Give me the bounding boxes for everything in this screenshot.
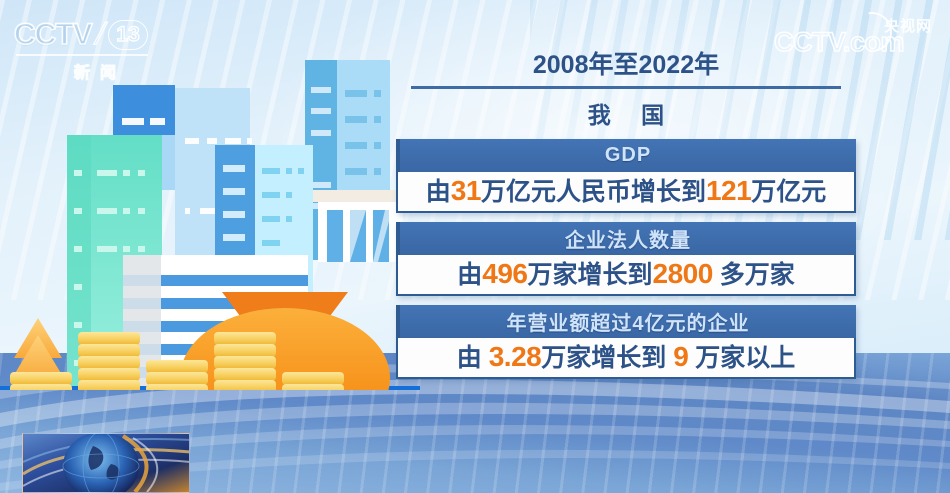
watermark-en-text: CCTV.com [774, 27, 904, 58]
city-illustration [0, 60, 420, 390]
statistic-text: 由 [457, 344, 489, 372]
statistic-text: 由 [426, 178, 451, 206]
statistic-row: GDP由31万亿元人民币增长到121万亿元 [396, 139, 856, 213]
cctv-wordmark: CCTV [14, 18, 92, 52]
statistic-label: 企业法人数量 [565, 224, 691, 253]
broadcast-screen: CCTV / 13 新闻 央视网 CCTV.com 2008年至2022年 我 … [0, 0, 950, 493]
statistics-panel: 2008年至2022年 我 国 GDP由31万亿元人民币增长到121万亿元企业法… [396, 52, 856, 388]
statistic-text: 万家以上 [688, 344, 795, 372]
statistic-text: 由 [457, 261, 482, 289]
site-watermark: 央视网 CCTV.com [774, 8, 944, 60]
statistic-row-body: 由31万亿元人民币增长到121万亿元 [396, 172, 856, 213]
cctv-channel-number: 13 [108, 20, 148, 50]
statistic-row: 年营业额超过4亿元的企业由 3.28万家增长到 9 万家以上 [396, 305, 856, 379]
statistic-text: 万家增长到 [527, 261, 652, 289]
cctv-underline [16, 54, 148, 56]
statistic-number: 496 [482, 258, 527, 289]
cctv-logo-row: CCTV / 13 [14, 18, 164, 52]
statistic-row-header: 年营业额超过4亿元的企业 [396, 305, 856, 338]
statistic-value: 由 3.28万家增长到 9 万家以上 [457, 343, 795, 371]
statistic-number: 31 [451, 175, 481, 206]
globe-graphic [23, 434, 190, 493]
statistic-number: 3.28 [489, 341, 542, 372]
statistic-number: 121 [706, 175, 751, 206]
globe-thumbnail [22, 433, 190, 493]
cctv-logo: CCTV / 13 新闻 [14, 18, 164, 76]
statistic-number: 9 [673, 341, 688, 372]
statistic-row-header: GDP [396, 139, 856, 172]
statistic-text: 万家增长到 [541, 344, 673, 372]
city-skyline-svg [0, 60, 420, 390]
statistic-row-header: 企业法人数量 [396, 222, 856, 255]
cctv-channel-name: 新闻 [14, 59, 164, 83]
building-classical-roof [313, 190, 408, 202]
statistic-row-body: 由496万家增长到2800 多万家 [396, 255, 856, 296]
cctv-slash-icon: / [91, 18, 108, 52]
statistic-value: 由496万家增长到2800 多万家 [457, 260, 795, 288]
statistic-row-body: 由 3.28万家增长到 9 万家以上 [396, 338, 856, 379]
statistic-value: 由31万亿元人民币增长到121万亿元 [426, 177, 826, 205]
statistic-text: 万亿元 [751, 178, 826, 206]
statistic-text: 多万家 [713, 261, 795, 289]
statistic-text: 万亿元人民币增长到 [481, 178, 706, 206]
statistics-rows: GDP由31万亿元人民币增长到121万亿元企业法人数量由496万家增长到2800… [396, 139, 856, 379]
building-blue-top [113, 85, 175, 135]
page-subtitle: 我 国 [396, 96, 856, 130]
statistic-row: 企业法人数量由496万家增长到2800 多万家 [396, 222, 856, 296]
statistic-number: 2800 [653, 258, 713, 289]
statistic-label: 年营业额超过4亿元的企业 [506, 307, 749, 336]
statistic-label: GDP [605, 144, 651, 167]
title-divider [411, 86, 841, 89]
